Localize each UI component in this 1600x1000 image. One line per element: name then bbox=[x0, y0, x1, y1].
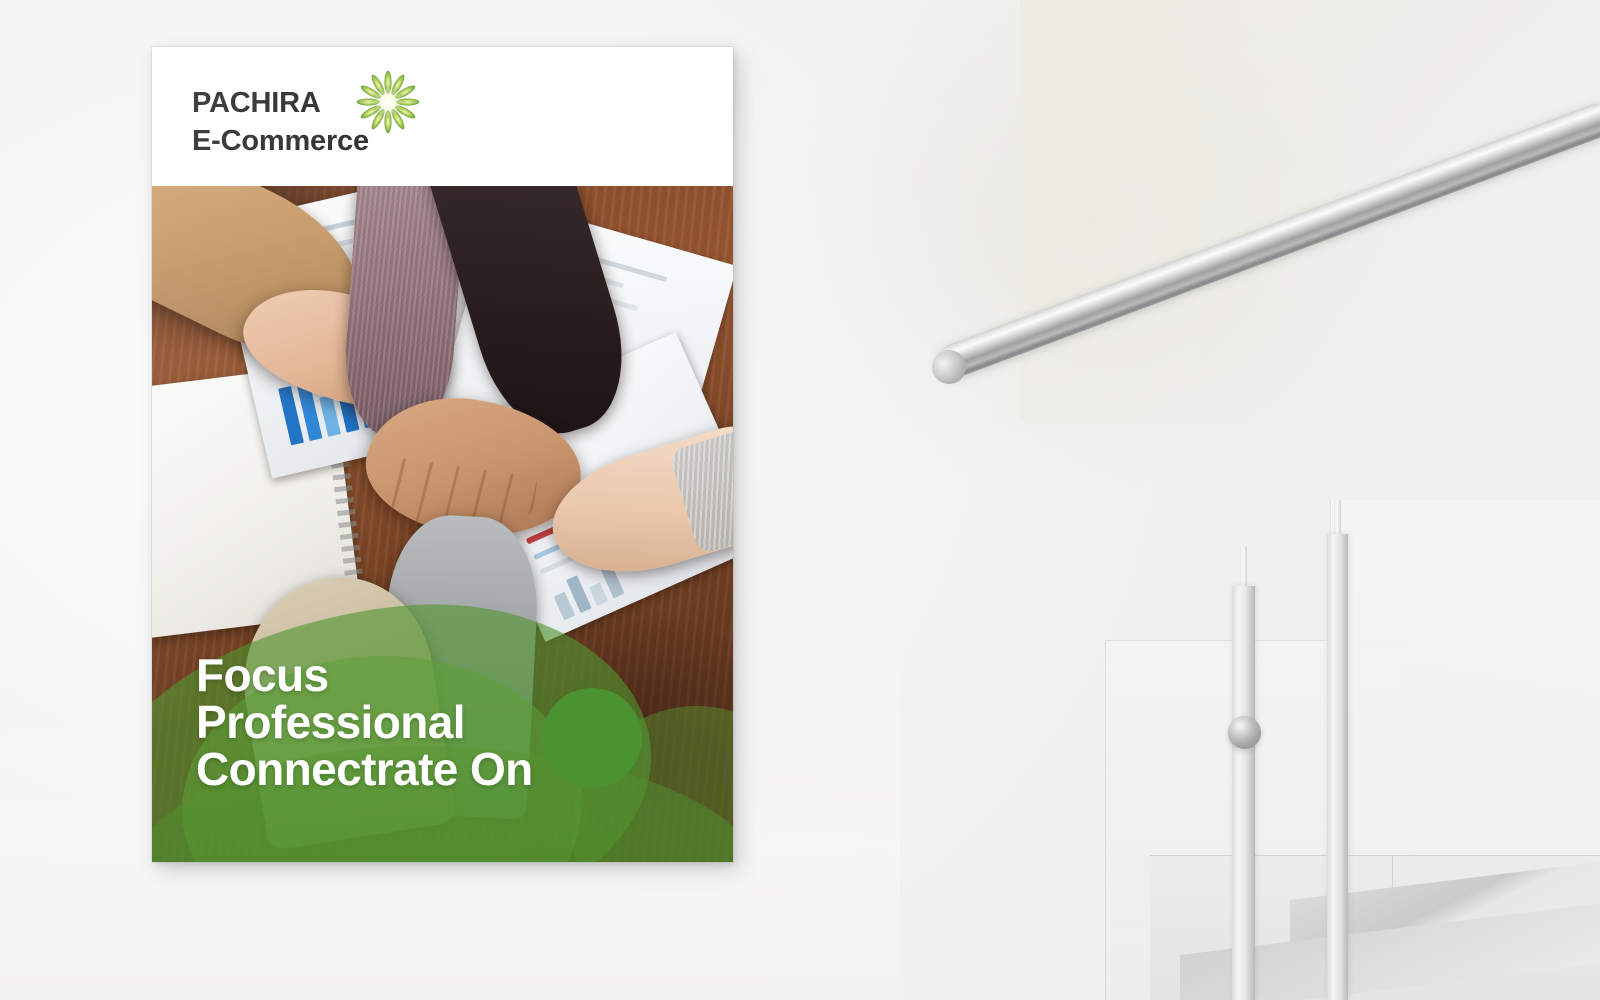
poster-headline: Focus Professional Connectrate On bbox=[196, 652, 533, 793]
brand-name: PACHIRA E-Commerce bbox=[192, 89, 369, 156]
brand-logo: PACHIRA E-Commerce bbox=[192, 89, 369, 156]
headline-line-2: Professional bbox=[196, 699, 533, 746]
headline-line-1: Focus bbox=[196, 652, 533, 699]
brand-line-2: E-Commerce bbox=[192, 127, 369, 156]
poster-header-band: PACHIRA E-Commerce bbox=[152, 47, 733, 186]
headline-line-3: Connectrate On bbox=[196, 746, 533, 793]
handrail-post-right bbox=[1327, 534, 1348, 1000]
handrail-post-sphere bbox=[1228, 716, 1261, 749]
poster-photo-teamwork: Focus Professional Connectrate On bbox=[152, 186, 733, 862]
scene-root: PACHIRA E-Commerce bbox=[0, 0, 1600, 1000]
tile-seam bbox=[1150, 855, 1600, 856]
handrail-post-left bbox=[1232, 586, 1255, 1000]
green-solid-circle bbox=[542, 688, 642, 788]
brand-line-1: PACHIRA bbox=[192, 87, 321, 119]
poster-mockup[interactable]: PACHIRA E-Commerce bbox=[152, 47, 733, 862]
flower-burst-logo-mark-icon bbox=[354, 63, 422, 141]
